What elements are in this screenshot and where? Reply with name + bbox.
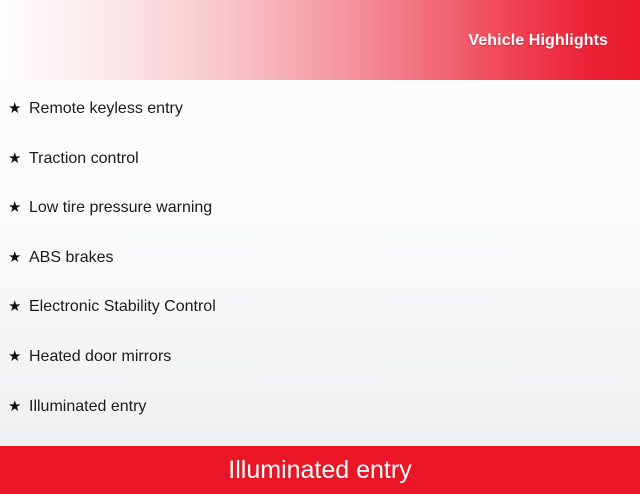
list-item-label: ABS brakes: [29, 248, 113, 268]
star-icon: ★: [8, 99, 29, 119]
footer-caption: Illuminated entry: [228, 455, 411, 485]
star-icon: ★: [8, 248, 29, 268]
list-item-label: Illuminated entry: [29, 397, 146, 417]
page-title: Vehicle Highlights: [468, 32, 640, 50]
star-icon: ★: [8, 198, 29, 218]
list-item: ★ Electronic Stability Control: [0, 297, 640, 347]
list-item: ★ Low tire pressure warning: [0, 198, 640, 248]
list-item: ★ Remote keyless entry: [0, 99, 640, 149]
footer-banner: Illuminated entry: [0, 446, 640, 494]
list-item: ★ ABS brakes: [0, 248, 640, 298]
list-item: ★ Heated door mirrors: [0, 347, 640, 397]
list-item: ★ Illuminated entry: [0, 397, 640, 447]
list-item: ★ Traction control: [0, 149, 640, 199]
vehicle-highlights-panel: Vehicle Highlights ★ Remote keyless entr…: [0, 0, 640, 480]
star-icon: ★: [8, 297, 29, 317]
list-item-label: Remote keyless entry: [29, 99, 183, 119]
header-banner: Vehicle Highlights: [0, 0, 640, 80]
list-item-label: Low tire pressure warning: [29, 198, 212, 218]
list-item-label: Electronic Stability Control: [29, 297, 216, 317]
list-item-label: Heated door mirrors: [29, 347, 171, 367]
star-icon: ★: [8, 397, 29, 417]
star-icon: ★: [8, 347, 29, 367]
vehicle-highlights-list: ★ Remote keyless entry ★ Traction contro…: [0, 80, 640, 446]
star-icon: ★: [8, 149, 29, 169]
list-item-label: Traction control: [29, 149, 139, 169]
